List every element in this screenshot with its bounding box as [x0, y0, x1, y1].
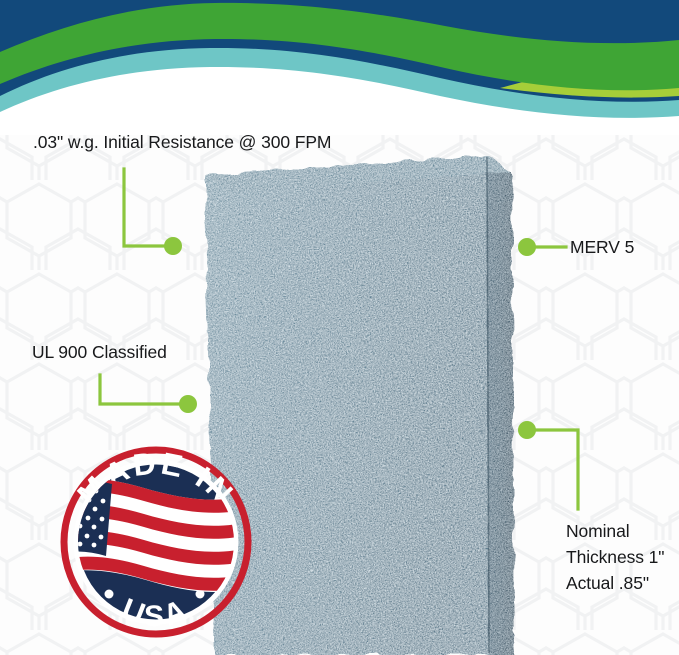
- connector-dot-thickness: [518, 421, 536, 439]
- connector-dot-ul900: [179, 395, 197, 413]
- connector-dot-resistance: [164, 237, 182, 255]
- callout-label-initial-resistance: .03" w.g. Initial Resistance @ 300 FPM: [33, 129, 331, 155]
- connector-ul900: [100, 375, 185, 404]
- thickness-line-1: Nominal: [566, 518, 679, 544]
- infographic-canvas: .03" w.g. Initial Resistance @ 300 FPM U…: [0, 0, 679, 655]
- callout-label-merv-rating: MERV 5: [570, 234, 634, 260]
- callout-label-ul900-classified: UL 900 Classified: [32, 339, 167, 365]
- connector-dot-merv: [518, 238, 536, 256]
- made-in-usa-badge: MADE IN USA: [48, 434, 264, 650]
- thickness-line-3: Actual .85": [566, 570, 679, 596]
- connector-resistance: [124, 169, 170, 246]
- callout-label-nominal-thickness: Nominal Thickness 1" Actual .85": [566, 518, 679, 596]
- connector-thickness: [530, 430, 578, 509]
- thickness-line-2: Thickness 1": [566, 544, 679, 570]
